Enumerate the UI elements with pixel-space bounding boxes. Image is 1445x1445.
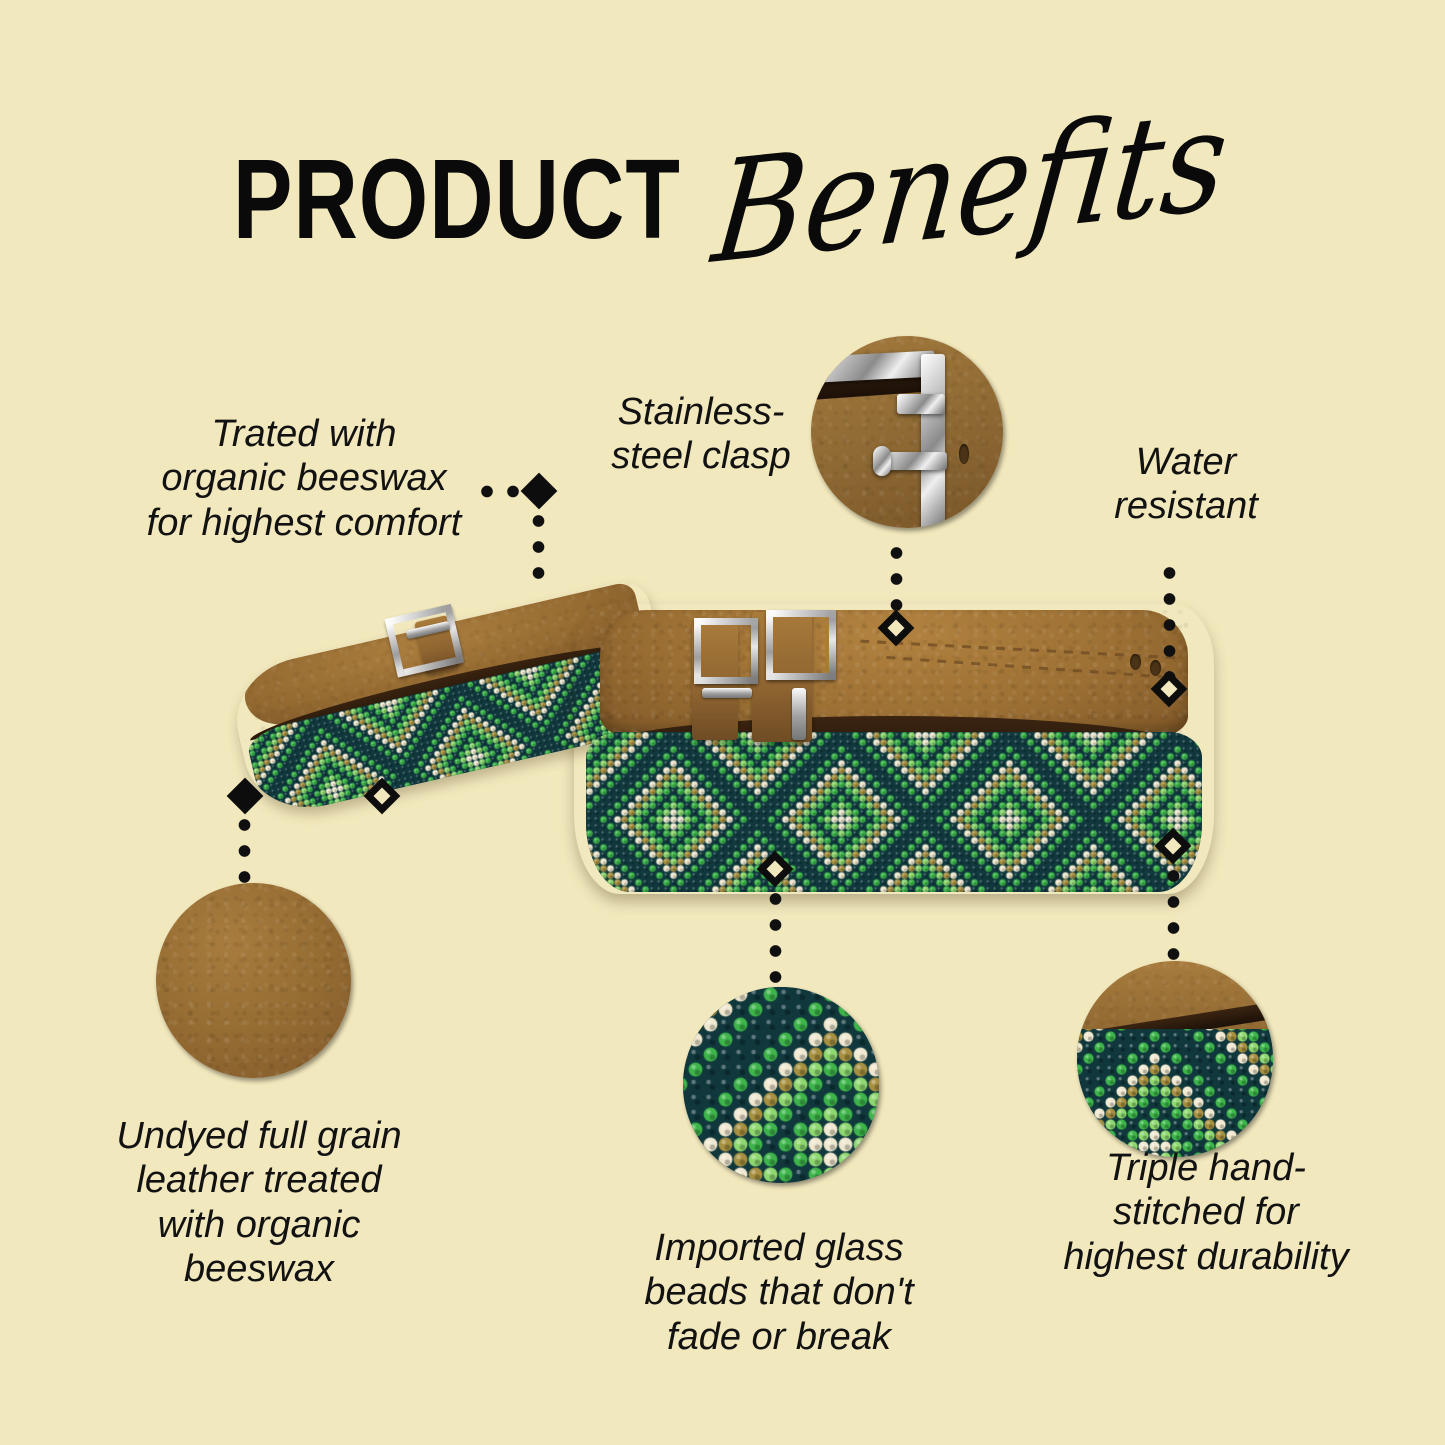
title-product: PRODUCT bbox=[233, 135, 681, 265]
clasp-punch-hole bbox=[959, 444, 969, 464]
collar-large-buckle-frame-right bbox=[766, 610, 836, 680]
marker-beeswax-comfort bbox=[521, 473, 558, 510]
callout-label-triple-stitched: Triple hand- stitched for highest durabi… bbox=[1046, 1146, 1366, 1279]
callout-label-stainless-steel-clasp: Stainless- steel clasp bbox=[566, 390, 836, 479]
connector-leather-vertical bbox=[238, 812, 251, 884]
detail-circle-stitching bbox=[1077, 961, 1273, 1157]
stitch-beadwork bbox=[1077, 1029, 1273, 1157]
title-benefits: Benefits bbox=[707, 78, 1235, 296]
collar-large-beadwork bbox=[586, 732, 1202, 892]
detail-circle-clasp bbox=[811, 336, 1003, 528]
callout-label-water-resistant: Water resistant bbox=[1056, 440, 1316, 529]
detail-circle-beads bbox=[683, 987, 879, 1183]
connector-water-vertical bbox=[1163, 560, 1176, 678]
clasp-metal-post bbox=[921, 354, 945, 528]
connector-clasp-vertical bbox=[890, 540, 903, 618]
clasp-metal-prong-tip bbox=[873, 446, 891, 476]
detail-circle-leather bbox=[156, 883, 351, 1078]
collar-large-buckle-pin bbox=[792, 688, 806, 740]
infographic-canvas: PRODUCTBenefits bbox=[0, 0, 1445, 1445]
callout-label-glass-beads: Imported glass beads that don't fade or … bbox=[604, 1226, 954, 1359]
punch-hole bbox=[1150, 660, 1161, 676]
callout-label-undyed-leather: Undyed full grain leather treated with o… bbox=[68, 1114, 450, 1292]
connector-beads-vertical bbox=[769, 886, 782, 986]
collar-large-buckle-prong bbox=[702, 688, 752, 698]
callout-label-beeswax-comfort: Trated with organic beeswax for highest … bbox=[84, 412, 524, 545]
connector-beeswax-vertical bbox=[532, 508, 545, 584]
connector-stitch-vertical bbox=[1167, 863, 1180, 961]
collar-large-buckle-frame-left bbox=[694, 618, 758, 684]
product-collar-large bbox=[574, 604, 1214, 894]
punch-hole bbox=[1130, 654, 1141, 670]
collar-large-band bbox=[574, 604, 1214, 894]
page-title: PRODUCTBenefits bbox=[0, 128, 1445, 272]
clasp-metal-joint bbox=[897, 394, 945, 414]
